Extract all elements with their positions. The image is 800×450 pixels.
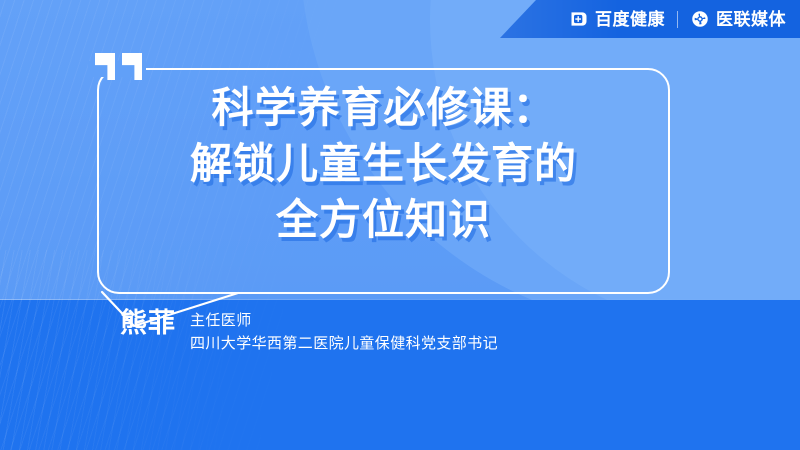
brand-baidu-health-label: 百度健康 [595,11,665,28]
speaker-credentials: 主任医师 四川大学华西第二医院儿童保健科党支部书记 [190,306,498,354]
baidu-health-logo-icon [569,9,589,29]
brand-baidu-health[interactable]: 百度健康 [569,9,665,29]
brand-separator [677,11,678,28]
yilian-media-logo-icon [690,9,710,29]
brand-yilian-media[interactable]: 医联媒体 [690,9,786,29]
poster-canvas: 百度健康 医联媒体 科 [0,0,800,450]
poster-title: 科学养育必修课： 解锁儿童生长发育的 全方位知识 [97,80,670,248]
title-line-2: 解锁儿童生长发育的 [97,136,670,192]
title-line-1: 科学养育必修课： [97,80,670,136]
speaker-name: 熊菲 [120,306,176,338]
quotation-mark-icon [95,53,142,80]
speaker-job-title: 主任医师 [190,311,498,332]
speaker-organization: 四川大学华西第二医院儿童保健科党支部书记 [190,334,498,355]
speaker-block: 熊菲 主任医师 四川大学华西第二医院儿童保健科党支部书记 [120,306,498,354]
brand-bar: 百度健康 医联媒体 [569,0,786,38]
title-line-3: 全方位知识 [97,192,670,248]
brand-yilian-media-label: 医联媒体 [716,11,786,28]
